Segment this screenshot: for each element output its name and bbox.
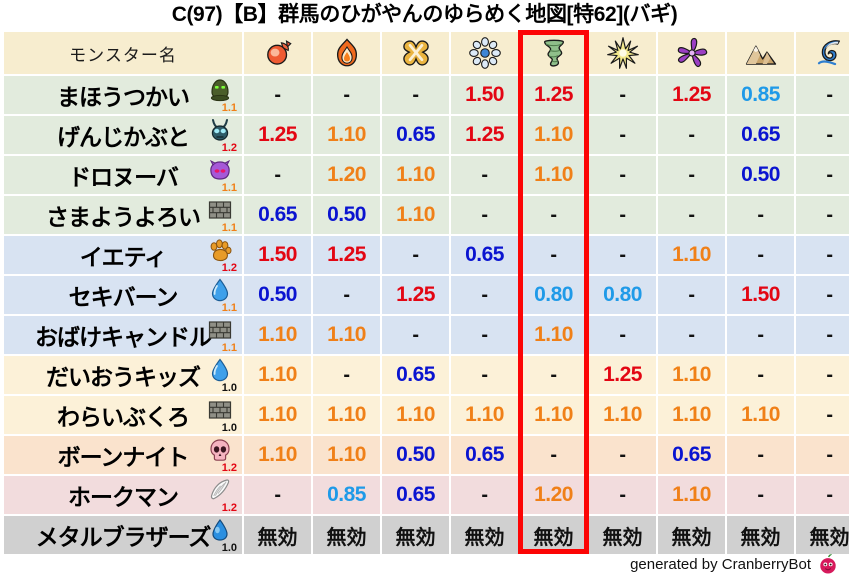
resistance-cell: - [313,356,380,394]
resistance-cell: - [727,196,794,234]
resistance-cell: - [727,476,794,514]
resistance-cell: 1.10 [313,116,380,154]
resistance-cell: 無効 [382,516,449,554]
resistance-cell: - [589,76,656,114]
resistance-cell: 1.10 [658,476,725,514]
water-drop-icon [207,357,233,383]
resistance-cell: - [589,156,656,194]
resistance-cell: 0.80 [589,276,656,314]
resistance-cell: - [244,76,311,114]
resistance-cell: 0.85 [727,76,794,114]
sparkle-star-icon [606,44,640,61]
monster-multiplier-badge: 1.1 [222,183,237,194]
resistance-cell: 1.20 [520,476,587,514]
table-row: まほうつかい1.1---1.501.25-1.250.85- [4,76,849,114]
monster-icon-wrap: 1.1 [199,197,239,233]
resistance-cell: - [796,436,849,474]
table-row: ホークマン1.2-0.850.65-1.20-1.10-- [4,476,849,514]
monster-multiplier-badge: 1.1 [222,103,237,114]
resistance-cell: - [589,316,656,354]
monster-icon-wrap: 1.2 [199,117,239,153]
water-drop-icon [207,277,233,303]
monster-name-cell[interactable]: まほうつかい1.1 [4,76,242,114]
resistance-cell: 1.10 [382,196,449,234]
white-wing-icon [207,477,233,503]
resistance-cell: - [244,476,311,514]
monster-name-cell[interactable]: メタルブラザーズ1.0 [4,516,242,554]
resistance-cell: - [796,116,849,154]
resistance-cell: - [313,76,380,114]
resistance-cell: 1.50 [727,276,794,314]
element-header-snowflake[interactable] [451,32,518,74]
monster-icon-wrap: 1.1 [199,157,239,193]
element-header-flame[interactable] [313,32,380,74]
resistance-cell: 0.80 [520,276,587,314]
monster-name-label: さまようよろい [46,198,200,232]
monster-name-label: セキバーン [69,278,178,312]
table-row: だいおうキッズ1.01.10-0.65--1.251.10-- [4,356,849,394]
resistance-cell: 1.20 [313,156,380,194]
monster-name-label: ボーンナイト [58,438,189,472]
resistance-cell: 1.10 [313,396,380,434]
purple-pinwheel-icon [675,44,709,61]
resistance-cell: 無効 [313,516,380,554]
resistance-cell: - [382,76,449,114]
resistance-cell: 1.50 [451,76,518,114]
resistance-cell: 無効 [589,516,656,554]
resistance-cell: 1.10 [658,356,725,394]
resistance-cell: 1.10 [658,236,725,274]
resistance-cell: 1.10 [451,396,518,434]
monster-icon-wrap: 1.1 [199,77,239,113]
resistance-cell: 1.10 [589,396,656,434]
cranberry-icon [817,553,839,575]
resistance-cell: 1.10 [520,396,587,434]
resistance-cell: 1.25 [451,116,518,154]
monster-icon-wrap: 1.1 [199,317,239,353]
monster-multiplier-badge: 1.0 [222,543,237,554]
resistance-cell: - [796,196,849,234]
resistance-cell: 1.25 [382,276,449,314]
monster-name-cell[interactable]: セキバーン1.1 [4,276,242,314]
table-row: ドロヌーバ1.1-1.201.10-1.10--0.50- [4,156,849,194]
resistance-cell: 0.65 [382,476,449,514]
brick-wall-icon [207,197,233,223]
resistance-cell: 1.10 [244,396,311,434]
monster-name-label: おばけキャンドル [35,318,211,352]
monster-name-cell[interactable]: イエティ1.2 [4,236,242,274]
resistance-cell: - [520,436,587,474]
monster-name-label: まほうつかい [57,78,189,112]
element-header-clover-cross[interactable] [382,32,449,74]
resistance-cell: 1.25 [520,76,587,114]
monster-multiplier-badge: 1.2 [222,503,237,514]
monster-name-label: イエティ [80,238,166,272]
resistance-cell: 1.10 [244,436,311,474]
resistance-cell: - [382,236,449,274]
resistance-cell: - [451,316,518,354]
resistance-cell: 1.50 [244,236,311,274]
resistance-cell: 無効 [796,516,849,554]
monster-name-label: ホークマン [68,478,178,512]
resistance-cell: 0.65 [382,116,449,154]
resistance-cell: - [796,476,849,514]
resistance-cell: 無効 [658,516,725,554]
footer: generated by CranberryBot [630,551,839,577]
resistance-cell: 0.85 [313,476,380,514]
monster-icon-wrap: 1.2 [199,237,239,273]
resistance-cell: 0.50 [382,436,449,474]
name-column-header: モンスター名 [4,32,242,74]
element-header-sparkle-star[interactable] [589,32,656,74]
monster-name-label: げんじかぶと [57,118,189,152]
water-wave-icon [813,44,847,61]
resistance-cell: - [520,236,587,274]
resistance-cell: - [589,196,656,234]
brick-wall-icon [207,317,233,343]
resistance-cell: 無効 [244,516,311,554]
resistance-cell: - [658,316,725,354]
resistance-cell: 1.10 [658,396,725,434]
resistance-cell: 1.10 [520,156,587,194]
monster-multiplier-badge: 1.2 [222,463,237,474]
monster-multiplier-badge: 1.1 [222,223,237,234]
table-row: メタルブラザーズ1.0無効無効無効無効無効無効無効無効無効 [4,516,849,554]
table-header-row: モンスター名 [4,32,849,74]
snowflake-icon [468,44,502,61]
monster-name-cell[interactable]: だいおうキッズ1.0 [4,356,242,394]
resistance-cell: 1.10 [520,316,587,354]
resistance-cell: - [796,76,849,114]
resistance-cell: - [451,356,518,394]
monster-name-label: わらいぶくろ [57,398,189,432]
monster-multiplier-badge: 1.1 [222,303,237,314]
resistance-cell: 1.10 [244,316,311,354]
resistance-cell: - [796,156,849,194]
resistance-cell: - [796,356,849,394]
resistance-cell: - [382,316,449,354]
resistance-cell: - [589,436,656,474]
element-header-meteor-fire[interactable] [244,32,311,74]
resistance-cell: - [727,236,794,274]
tornado-icon [537,44,571,61]
purple-blob-icon [207,157,233,183]
blue-beetle-icon [207,117,233,143]
green-slime-hat-icon [207,77,233,103]
resistance-cell: 0.65 [658,436,725,474]
meteor-fire-icon [261,44,295,61]
table-row: ボーンナイト1.21.101.100.500.65--0.65-- [4,436,849,474]
resistance-cell: 0.50 [313,196,380,234]
resistance-cell: - [313,276,380,314]
element-header-earth-mountain[interactable] [727,32,794,74]
resistance-cell: 無効 [451,516,518,554]
monster-multiplier-badge: 1.0 [222,383,237,394]
resistance-cell: - [658,116,725,154]
resistance-cell: - [451,276,518,314]
resistance-cell: 0.65 [451,436,518,474]
resistance-cell: 1.10 [313,316,380,354]
resistance-cell: 0.65 [727,116,794,154]
monster-name-label: ドロヌーバ [68,158,178,192]
resistance-cell: - [796,396,849,434]
resistance-cell: 1.25 [313,236,380,274]
resistance-table: モンスター名まほうつかい1.1---1.501.25-1.250.85-げんじか… [2,30,849,556]
element-header-water-wave[interactable] [796,32,849,74]
monster-icon-wrap: 1.2 [199,477,239,513]
resistance-cell: 無効 [520,516,587,554]
monster-name-cell[interactable]: おばけキャンドル1.1 [4,316,242,354]
resistance-cell: - [451,476,518,514]
pink-skull-icon [207,437,233,463]
resistance-cell: 0.65 [382,356,449,394]
orange-paw-icon [207,237,233,263]
resistance-cell: - [727,436,794,474]
element-header-purple-pinwheel[interactable] [658,32,725,74]
monster-name-cell[interactable]: ホークマン1.2 [4,476,242,514]
monster-multiplier-badge: 1.0 [222,423,237,434]
resistance-cell: 1.10 [244,356,311,394]
earth-mountain-icon [744,44,778,61]
resistance-cell: - [520,356,587,394]
monster-name-cell[interactable]: さまようよろい1.1 [4,196,242,234]
resistance-cell: 1.10 [382,396,449,434]
page-title: C(97)【B】群馬のひがやんのゆらめく地図[特62](バギ) [0,0,849,30]
monster-icon-wrap: 1.0 [199,357,239,393]
resistance-cell: - [727,316,794,354]
table-row: げんじかぶと1.21.251.100.651.251.10--0.65- [4,116,849,154]
blue-slime-icon [207,517,233,543]
monster-name-cell[interactable]: ボーンナイト1.2 [4,436,242,474]
monster-name-cell[interactable]: わらいぶくろ1.0 [4,396,242,434]
resistance-cell: - [658,276,725,314]
clover-cross-icon [399,44,433,61]
resistance-cell: - [589,116,656,154]
resistance-cell: - [727,356,794,394]
resistance-cell: 1.10 [520,116,587,154]
resistance-cell: - [796,276,849,314]
element-header-tornado[interactable] [520,32,587,74]
resistance-cell: - [520,196,587,234]
footer-text: generated by CranberryBot [630,556,811,573]
resistance-cell: - [244,156,311,194]
monster-multiplier-badge: 1.1 [222,343,237,354]
resistance-cell: 0.50 [727,156,794,194]
resistance-cell: 1.10 [727,396,794,434]
table-row: セキバーン1.10.50-1.25-0.800.80-1.50- [4,276,849,314]
resistance-cell: 0.50 [244,276,311,314]
resistance-cell: - [658,196,725,234]
monster-icon-wrap: 1.0 [199,397,239,433]
monster-name-cell[interactable]: げんじかぶと1.2 [4,116,242,154]
resistance-cell: 1.25 [244,116,311,154]
monster-icon-wrap: 1.0 [199,517,239,553]
table-row: おばけキャンドル1.11.101.10--1.10---- [4,316,849,354]
resistance-cell: 1.10 [382,156,449,194]
resistance-cell: - [451,156,518,194]
resistance-cell: 1.10 [313,436,380,474]
resistance-cell: 0.65 [451,236,518,274]
table-row: さまようよろい1.10.650.501.10------ [4,196,849,234]
resistance-cell: - [796,236,849,274]
resistance-cell: - [451,196,518,234]
table-row: イエティ1.21.501.25-0.65--1.10-- [4,236,849,274]
resistance-cell: 無効 [727,516,794,554]
resistance-cell: 0.65 [244,196,311,234]
monster-icon-wrap: 1.2 [199,437,239,473]
resistance-table-wrapper: モンスター名まほうつかい1.1---1.501.25-1.250.85-げんじか… [0,30,849,556]
resistance-cell: 1.25 [658,76,725,114]
resistance-cell: 1.25 [589,356,656,394]
resistance-cell: - [589,236,656,274]
resistance-cell: - [589,476,656,514]
table-row: わらいぶくろ1.01.101.101.101.101.101.101.101.1… [4,396,849,434]
monster-name-label: だいおうキッズ [46,358,200,392]
monster-icon-wrap: 1.1 [199,277,239,313]
resistance-cell: - [658,156,725,194]
brick-wall-icon [207,397,233,423]
monster-name-cell[interactable]: ドロヌーバ1.1 [4,156,242,194]
resistance-cell: - [796,316,849,354]
monster-multiplier-badge: 1.2 [222,263,237,274]
monster-name-label: メタルブラザーズ [36,518,211,552]
flame-icon [330,44,364,61]
monster-multiplier-badge: 1.2 [222,143,237,154]
